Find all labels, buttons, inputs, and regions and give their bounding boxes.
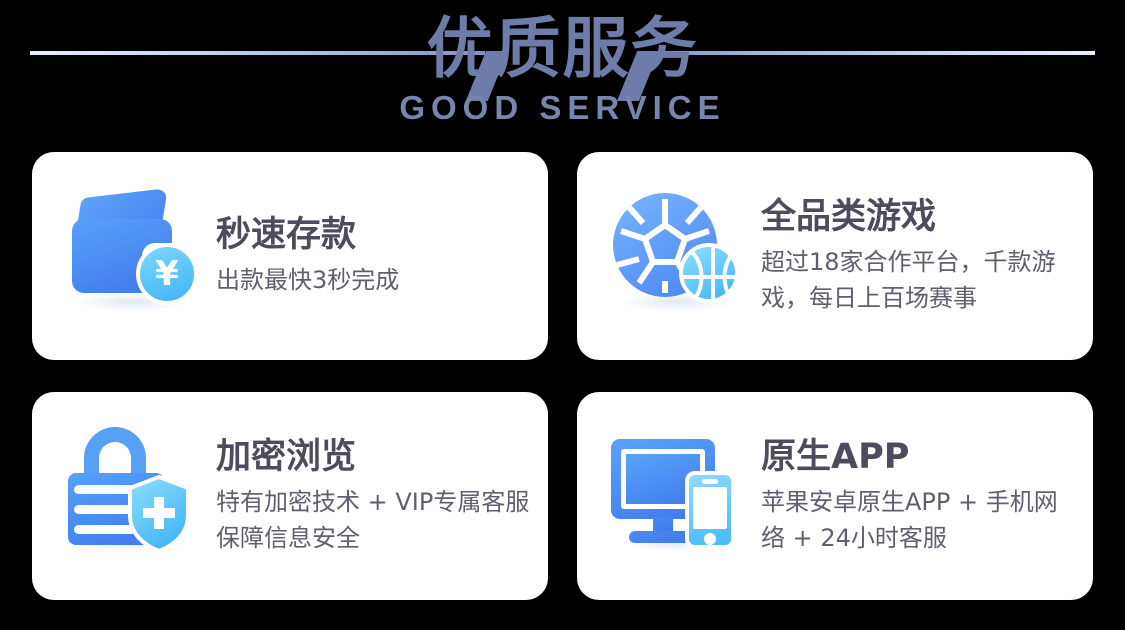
page-subtitle: GOOD SERVICE: [0, 89, 1125, 127]
card-text-block: 原生APP 苹果安卓原生APP + 手机网络 + 24小时客服: [755, 435, 1079, 558]
phone-speaker-icon: [702, 479, 718, 484]
card-description: 苹果安卓原生APP + 手机网络 + 24小时客服: [761, 484, 1079, 556]
phone-screen-icon: [693, 487, 727, 529]
feature-card-encrypted-browsing[interactable]: 加密浏览 特有加密技术 + VIP专属客服保障信息安全: [32, 392, 548, 600]
feature-card-all-games[interactable]: 全品类游戏 超过18家合作平台，千款游戏，每日上百场赛事: [577, 152, 1093, 360]
header-title-block: 优质服务 GOOD SERVICE: [0, 0, 1125, 127]
banner-header: 优质服务 GOOD SERVICE: [0, 0, 1125, 150]
wallet-yen-icon: ¥: [60, 181, 210, 331]
feature-card-grid: ¥ 秒速存款 出款最快3秒完成: [32, 152, 1093, 600]
yen-coin-icon: ¥: [136, 243, 198, 305]
card-title: 秒速存款: [216, 213, 534, 257]
card-description: 超过18家合作平台，千款游戏，每日上百场赛事: [761, 244, 1079, 316]
page-title: 优质服务: [0, 11, 1125, 87]
service-banner: 优质服务 GOOD SERVICE ¥ 秒速存款 出款最快3秒完成: [0, 0, 1125, 630]
card-title: 原生APP: [761, 435, 1079, 479]
feature-card-native-app[interactable]: 原生APP 苹果安卓原生APP + 手机网络 + 24小时客服: [577, 392, 1093, 600]
card-title: 加密浏览: [216, 435, 534, 479]
soccer-basketball-icon: [605, 181, 755, 331]
card-text-block: 全品类游戏 超过18家合作平台，千款游戏，每日上百场赛事: [755, 195, 1079, 318]
shield-cross-icon: [126, 475, 192, 553]
feature-card-fast-deposit[interactable]: ¥ 秒速存款 出款最快3秒完成: [32, 152, 548, 360]
card-title: 全品类游戏: [761, 195, 1079, 239]
lock-shield-icon: [60, 421, 210, 571]
yen-symbol: ¥: [155, 257, 179, 291]
card-description: 特有加密技术 + VIP专属客服保障信息安全: [216, 484, 534, 556]
card-text-block: 加密浏览 特有加密技术 + VIP专属客服保障信息安全: [210, 435, 534, 558]
monitor-phone-icon: [605, 421, 755, 571]
phone-home-button-icon: [704, 533, 716, 545]
basketball-icon: [679, 243, 739, 303]
card-description: 出款最快3秒完成: [216, 262, 534, 298]
card-text-block: 秒速存款 出款最快3秒完成: [210, 213, 534, 300]
